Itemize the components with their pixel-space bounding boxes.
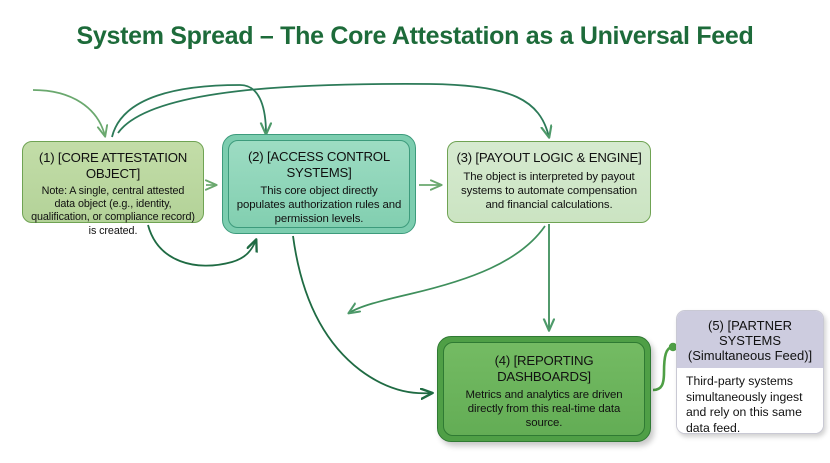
node-core-attestation-object-header: (1) [CORE ATTESTATION OBJECT] xyxy=(30,150,196,181)
node-access-control-systems-body: This core object directly populates auth… xyxy=(235,184,403,226)
edge-inflow-to-core-attestation xyxy=(33,90,105,136)
node-access-control-systems-inner: (2) [ACCESS CONTROL SYSTEMS] This core o… xyxy=(228,140,410,228)
node-payout-logic-engine-body: The object is interpreted by payout syst… xyxy=(454,170,644,212)
node-access-control-systems-header: (2) [ACCESS CONTROL SYSTEMS] xyxy=(235,149,403,180)
edge-payout-logic-to-access-control-return xyxy=(349,226,545,313)
node-reporting-dashboards-body: Metrics and analytics are driven directl… xyxy=(450,388,638,430)
edge-access-control-to-reporting-dashboards xyxy=(293,236,432,393)
node-partner-systems-body: Third-party systems simultaneously inges… xyxy=(677,368,823,434)
node-reporting-dashboards-header: (4) [REPORTING DASHBOARDS] xyxy=(450,353,638,384)
diagram-canvas: System Spread – The Core Attestation as … xyxy=(0,0,830,463)
node-core-attestation-object[interactable]: (1) [CORE ATTESTATION OBJECT] Note: A si… xyxy=(22,141,204,223)
node-reporting-dashboards-inner: (4) [REPORTING DASHBOARDS] Metrics and a… xyxy=(443,342,645,436)
node-core-attestation-object-body: Note: A single, central attested data ob… xyxy=(30,185,196,238)
node-partner-systems[interactable]: (5) [PARTNER SYSTEMS (Simultaneous Feed)… xyxy=(676,310,824,434)
node-partner-systems-header: (5) [PARTNER SYSTEMS (Simultaneous Feed)… xyxy=(677,311,823,368)
page-title: System Spread – The Core Attestation as … xyxy=(0,22,830,51)
node-access-control-systems[interactable]: (2) [ACCESS CONTROL SYSTEMS] This core o… xyxy=(222,134,416,234)
edge-core-attestation-to-access-control-top xyxy=(112,85,266,137)
node-payout-logic-engine-header: (3) [PAYOUT LOGIC & ENGINE] xyxy=(454,150,644,166)
node-payout-logic-engine[interactable]: (3) [PAYOUT LOGIC & ENGINE] The object i… xyxy=(447,141,651,223)
edge-reporting-dashboards-to-partner-systems xyxy=(653,347,672,390)
edge-core-attestation-to-payout-logic-top xyxy=(118,84,549,137)
node-reporting-dashboards[interactable]: (4) [REPORTING DASHBOARDS] Metrics and a… xyxy=(437,336,651,442)
